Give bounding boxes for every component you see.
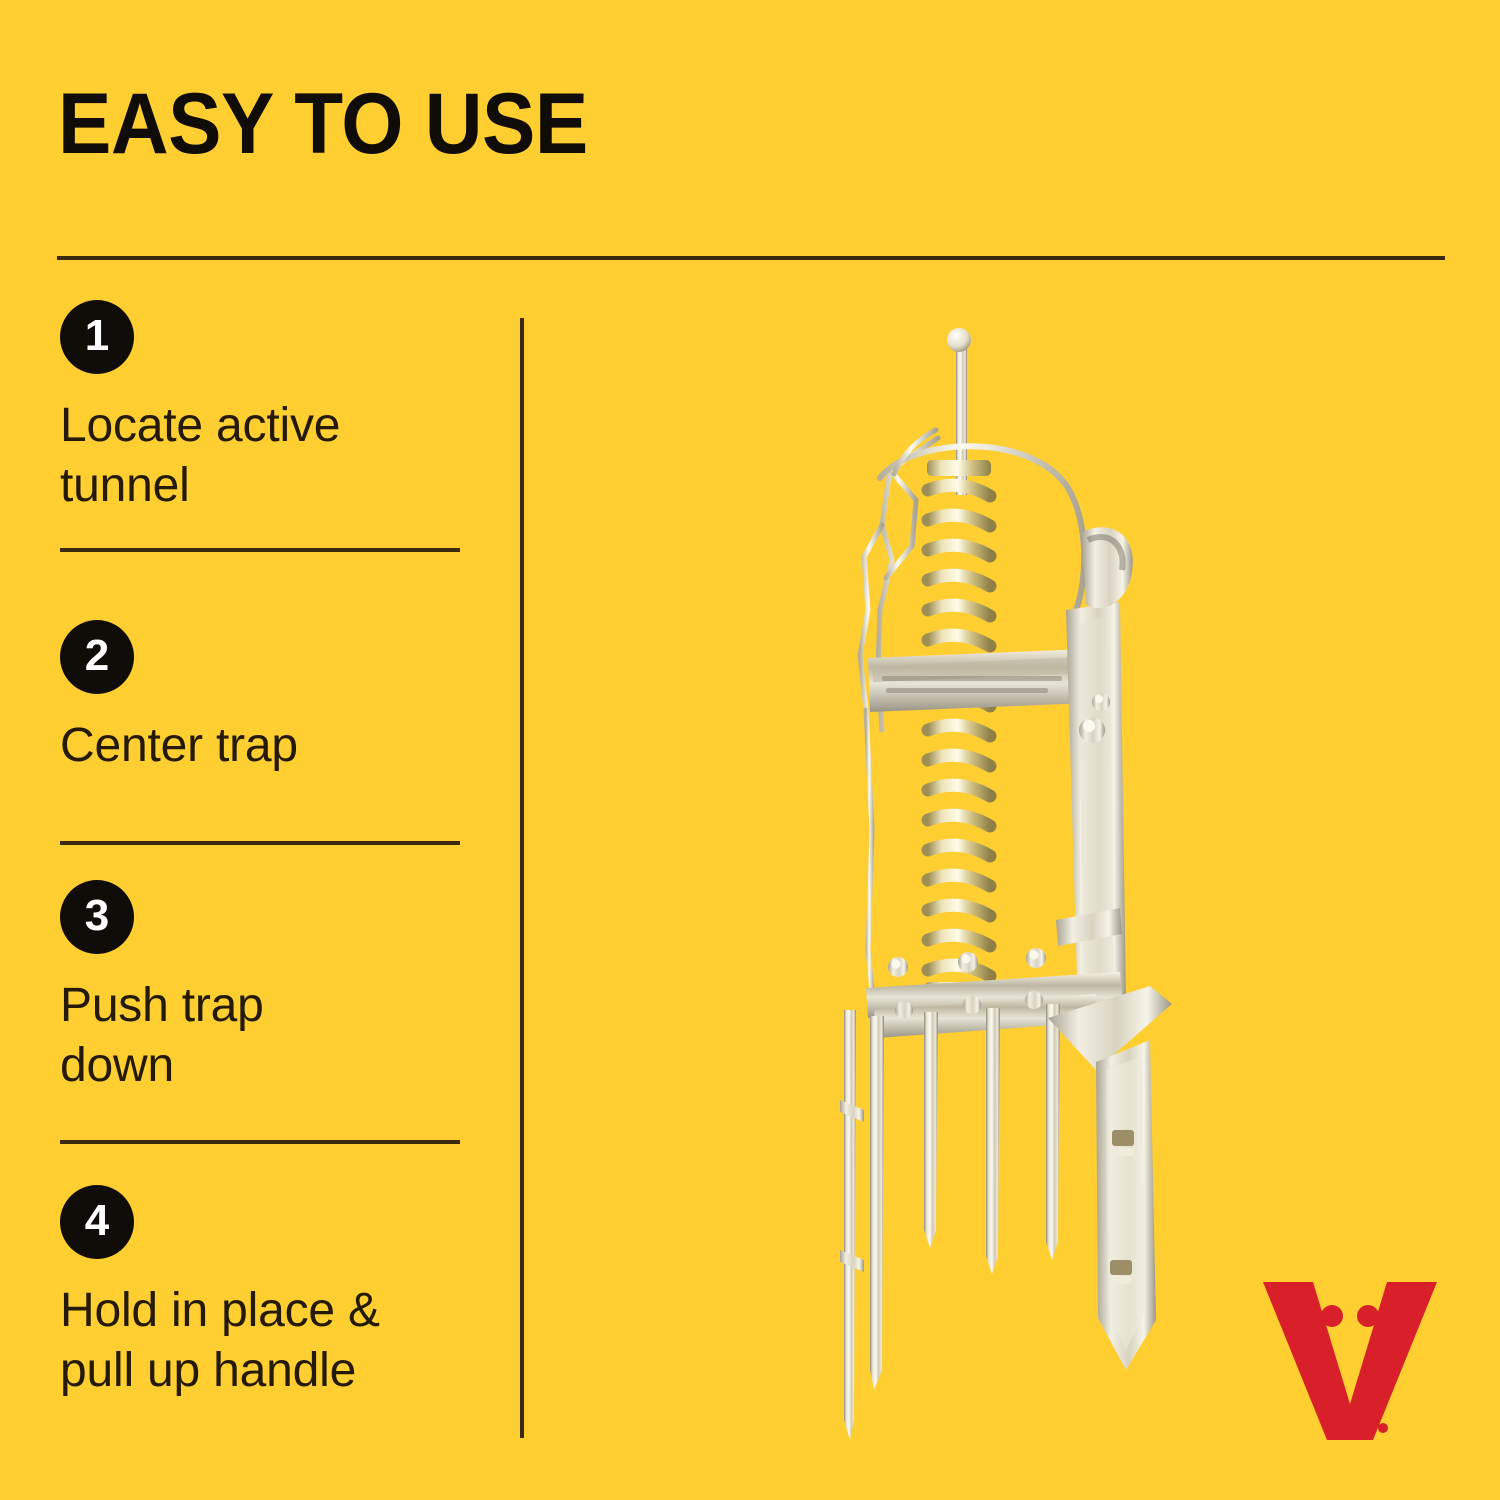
step-number-badge-4: 4 [60,1185,134,1259]
vertical-divider [520,318,524,1438]
poster-canvas: EASY TO USE 1 Locate active tunnel 2 Cen… [0,0,1500,1500]
step-label-4: Hold in place & pull up handle [60,1281,480,1401]
step-number-1: 1 [85,314,109,358]
step-number-2: 2 [85,634,109,678]
victor-v-mark [1263,1282,1437,1440]
step-label-1: Locate active tunnel [60,396,480,516]
step-number-badge-2: 2 [60,620,134,694]
step-number-badge-3: 3 [60,880,134,954]
step-divider-2 [60,841,460,845]
steps-list: 1 Locate active tunnel 2 Center trap 3 P… [0,0,500,1500]
step-number-3: 3 [85,894,109,938]
step-label-2: Center trap [60,716,480,776]
step-divider-3 [60,1140,460,1144]
step-label-3: Push trap down [60,976,480,1096]
trap-blade-stake [1048,986,1172,1370]
step-divider-1 [60,548,460,552]
registered-mark [1378,1423,1388,1433]
product-image-mole-trap [820,310,1240,1440]
step-item-3: 3 Push trap down [60,880,480,1096]
coil-spring [924,460,996,1004]
step-item-1: 1 Locate active tunnel [60,300,480,516]
victor-eye-right [1357,1305,1379,1327]
victor-eye-left [1321,1305,1343,1327]
step-number-badge-1: 1 [60,300,134,374]
victor-logo [1255,1268,1445,1448]
trigger-pan [1082,527,1133,608]
step-number-4: 4 [85,1199,109,1243]
step-item-4: 4 Hold in place & pull up handle [60,1185,480,1401]
trap-ground-spikes [840,1004,1060,1440]
step-item-2: 2 Center trap [60,620,480,776]
